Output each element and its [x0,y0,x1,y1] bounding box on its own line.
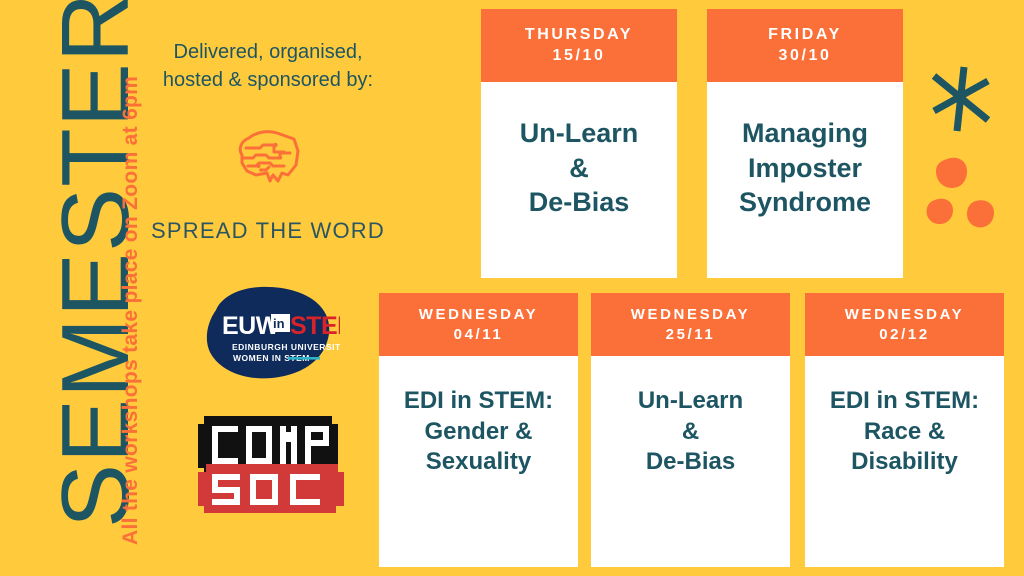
workshop-title-line: Managing [742,116,868,151]
workshop-title-line: Imposter [748,151,862,186]
workshop-day: FRIDAY [768,25,842,45]
workshop-card-header: WEDNESDAY 04/11 [379,293,578,356]
workshop-date: 30/10 [778,46,831,66]
workshop-date: 15/10 [552,46,605,66]
workshop-card[interactable]: WEDNESDAY 25/11 Un-Learn & De-Bias [591,293,790,567]
workshop-title-line: EDI in STEM: [830,386,979,417]
workshop-title-line: Sexuality [426,447,531,478]
sponsor-lead-line-2: hosted & sponsored by: [150,66,386,94]
workshop-card-header: WEDNESDAY 25/11 [591,293,790,356]
workshop-title-line: EDI in STEM: [404,386,553,417]
svg-text:EDINBURGH UNIVERSITY: EDINBURGH UNIVERSITY [232,342,340,352]
sponsor-name: SPREAD THE WORD [150,218,386,244]
workshop-title-line: Gender & [424,417,532,448]
page-subtitle: All the workshops take place on Zoom at … [117,55,143,545]
workshop-day: WEDNESDAY [631,305,751,324]
poster-canvas: SEMESTER 1 All the workshops take place … [0,0,1024,576]
page-subtitle-text: All the workshops take place on Zoom at … [120,76,141,545]
workshop-title-line: Un-Learn [520,116,639,151]
workshop-title-line: Syndrome [739,185,871,220]
compsoc-logo [190,406,354,518]
workshop-day: THURSDAY [525,25,633,45]
workshop-title-line: Un-Learn [638,386,743,417]
workshop-date: 02/12 [879,325,930,344]
svg-text:in: in [273,316,285,331]
workshop-card-body: Un-Learn & De-Bias [591,356,790,567]
workshop-card-body: Un-Learn & De-Bias [481,82,677,278]
workshop-card-body: EDI in STEM: Race & Disability [805,356,1004,567]
svg-text:STEM: STEM [290,312,340,340]
workshop-title-line: De-Bias [529,185,630,220]
blob-decoration-icon [925,155,1003,237]
workshop-card-body: Managing Imposter Syndrome [707,82,903,278]
workshop-day: WEDNESDAY [845,305,965,324]
workshop-date: 04/11 [454,325,504,344]
workshop-title-line: & [569,151,589,186]
sponsor-lead: Delivered, organised, hosted & sponsored… [150,38,386,94]
workshop-card-header: THURSDAY 15/10 [481,9,677,82]
workshop-card[interactable]: WEDNESDAY 04/11 EDI in STEM: Gender & Se… [379,293,578,567]
workshop-title-line: De-Bias [646,447,735,478]
workshop-title-line: Disability [851,447,958,478]
brain-circuit-icon [150,124,386,196]
workshop-day: WEDNESDAY [419,305,539,324]
sponsor-block: Delivered, organised, hosted & sponsored… [150,38,386,244]
workshop-card[interactable]: THURSDAY 15/10 Un-Learn & De-Bias [481,9,677,278]
euw-in-stem-logo: EUW in STEM EDINBURGH UNIVERSITY WOMEN I… [196,284,340,388]
workshop-title-line: Race & [864,417,945,448]
workshop-title-line: & [682,417,699,448]
workshop-card-header: FRIDAY 30/10 [707,9,903,82]
workshop-card-body: EDI in STEM: Gender & Sexuality [379,356,578,567]
workshop-card[interactable]: FRIDAY 30/10 Managing Imposter Syndrome [707,9,903,278]
workshop-card-header: WEDNESDAY 02/12 [805,293,1004,356]
asterisk-decoration-icon [925,63,997,135]
workshop-card[interactable]: WEDNESDAY 02/12 EDI in STEM: Race & Disa… [805,293,1004,567]
workshop-date: 25/11 [666,325,716,344]
sponsor-lead-line-1: Delivered, organised, [150,38,386,66]
